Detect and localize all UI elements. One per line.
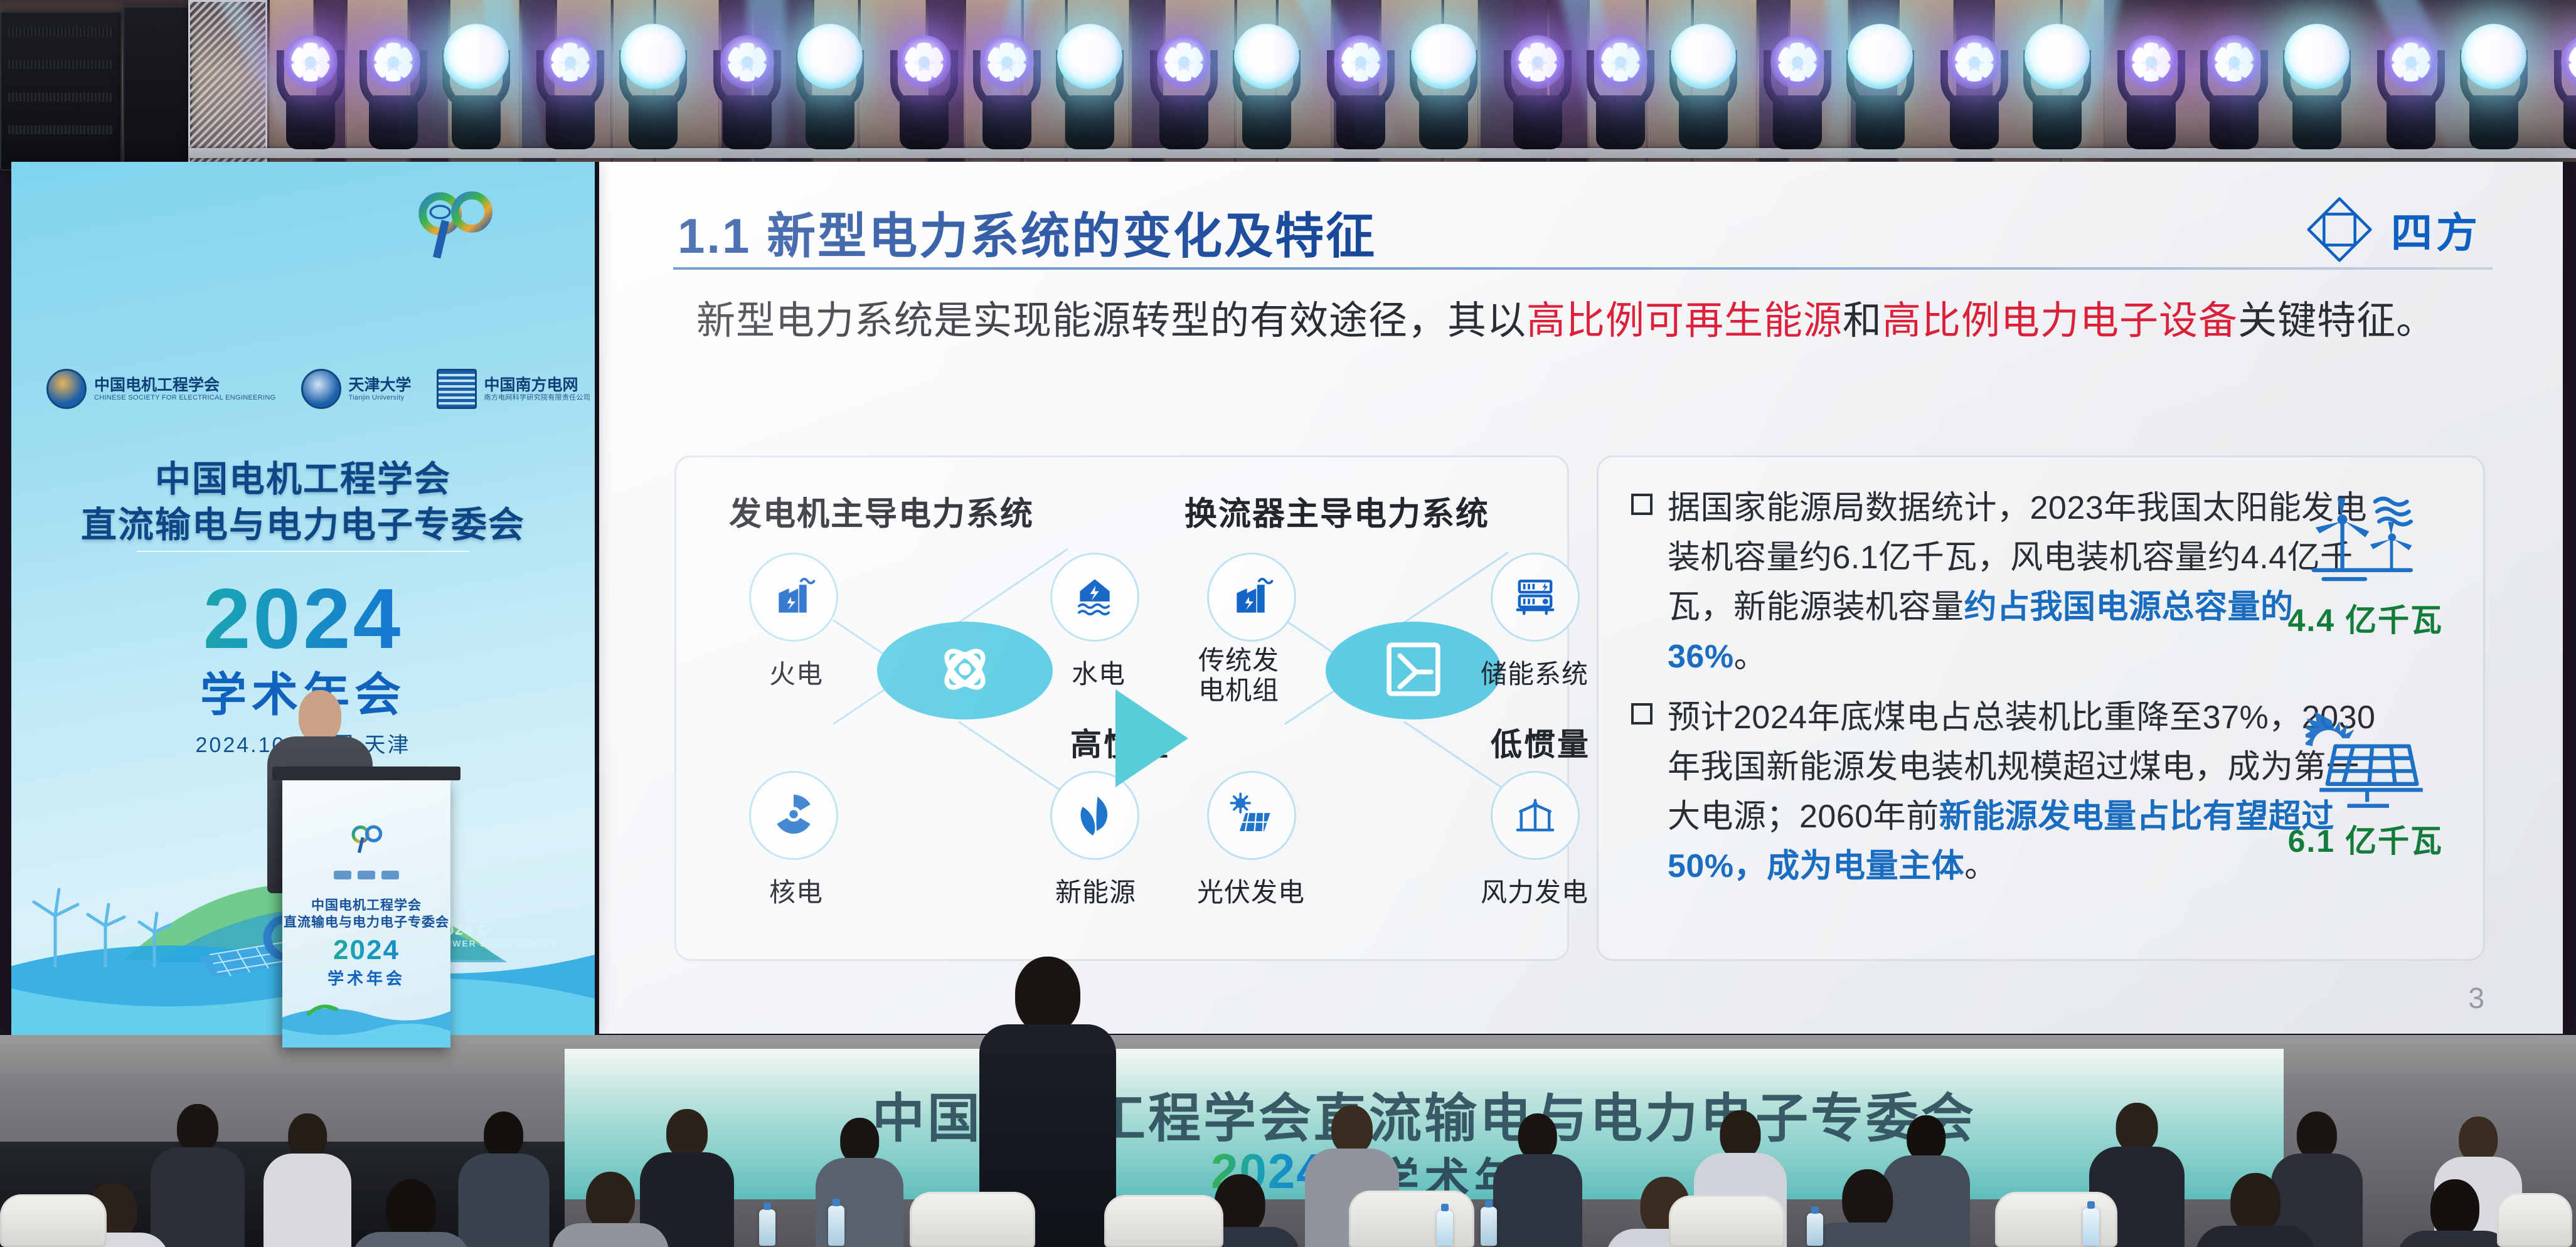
audience-head bbox=[586, 1172, 635, 1230]
audience-head bbox=[2297, 1112, 2337, 1159]
audience-body bbox=[351, 1232, 471, 1247]
audience-member bbox=[351, 1179, 471, 1247]
beam-light bbox=[1049, 18, 1131, 149]
chair bbox=[0, 1194, 107, 1247]
audience-head bbox=[386, 1179, 436, 1239]
tju-emblem-icon bbox=[301, 369, 341, 409]
water-bottle bbox=[759, 1209, 775, 1246]
banner-title: 中国电机工程学会 直流输电与电力电子专委会 bbox=[11, 457, 595, 548]
lighting-truss bbox=[188, 0, 267, 166]
audience-member bbox=[458, 1112, 549, 1247]
body-highlight-red-2: 高比例电力电子设备 bbox=[1882, 299, 2238, 342]
chair bbox=[910, 1192, 1035, 1247]
wash-light bbox=[2370, 39, 2452, 149]
diagram-panel: 发电机主导电力系统 换流器主导电力系统 bbox=[674, 455, 1569, 961]
diamond-arrows-icon bbox=[2304, 194, 2375, 265]
conference-hall-photo: 1.1 新型电力系统的变化及特征 四方 新型电力系统是 bbox=[0, 0, 2576, 1247]
bullet-list: 据国家能源局数据统计，2023年我国太阳能发电装机容量约6.1亿千瓦，风电装机容… bbox=[1627, 484, 2387, 903]
beam-light bbox=[1226, 18, 1307, 149]
csee-90-ribbon-icon bbox=[348, 819, 385, 856]
podium-year: 2024 bbox=[282, 935, 450, 966]
wash-light bbox=[353, 39, 434, 149]
battery-rack-icon bbox=[1512, 573, 1558, 622]
wash-light bbox=[530, 39, 611, 149]
audience-body bbox=[458, 1154, 549, 1247]
audience-member bbox=[2397, 1179, 2513, 1247]
solar-panel-icon bbox=[2288, 712, 2443, 812]
audience-head bbox=[1907, 1115, 1945, 1161]
stat-solar-value: 6.1 亿千瓦 bbox=[2288, 816, 2443, 861]
sponsor-logos: 中国电机工程学会CHINESE SOCIETY FOR ELECTRICAL E… bbox=[46, 369, 561, 409]
nuclear-icon bbox=[770, 791, 817, 841]
truss-beam bbox=[188, 148, 2576, 158]
banner-divider bbox=[137, 551, 469, 552]
left-hub bbox=[877, 622, 1053, 719]
wash-light bbox=[1143, 39, 1225, 149]
wash-light bbox=[2110, 39, 2192, 149]
podium-subtitle: 学术年会 bbox=[282, 966, 450, 989]
wash-light bbox=[1934, 39, 2015, 149]
audience-body bbox=[1493, 1154, 1582, 1247]
csee-emblem-icon bbox=[46, 369, 87, 409]
audience-head bbox=[288, 1113, 327, 1159]
audience-head bbox=[840, 1118, 879, 1164]
audience-member bbox=[1493, 1113, 1582, 1247]
bullet-2-tail: 。 bbox=[1964, 848, 1998, 884]
water-bottle bbox=[1481, 1207, 1497, 1246]
wash-light bbox=[883, 39, 965, 149]
line-array-speaker bbox=[123, 6, 192, 173]
sifang-brand-logo: 四方 bbox=[2304, 194, 2481, 265]
audience-head bbox=[2430, 1179, 2479, 1238]
csee-90-ribbon-icon bbox=[410, 177, 498, 265]
node-label-thermal-left: 火电 bbox=[769, 653, 823, 691]
audience-member bbox=[263, 1113, 351, 1247]
square-bullet-icon bbox=[1631, 494, 1653, 515]
podium-sponsor-logos bbox=[299, 871, 434, 879]
beam-light bbox=[2276, 18, 2358, 149]
stat-solar: 6.1 亿千瓦 bbox=[2288, 712, 2443, 861]
audience-member bbox=[552, 1172, 669, 1247]
node-label-storage: 储能系统 bbox=[1481, 653, 1589, 691]
transition-arrow-icon bbox=[1115, 689, 1188, 787]
wind-turbine-icon bbox=[2288, 491, 2443, 592]
podium-title: 中国电机工程学会 直流输电与电力电子专委会 bbox=[282, 897, 450, 931]
podium: 中国电机工程学会 直流输电与电力电子专委会 2024 学术年会 bbox=[282, 778, 450, 1048]
beam-light bbox=[435, 18, 517, 149]
podium-wave-graphic bbox=[282, 990, 450, 1048]
banner-title-line1: 中国电机工程学会 bbox=[11, 457, 595, 502]
atom-icon bbox=[931, 635, 999, 706]
beam-light bbox=[789, 18, 871, 149]
right-inertia-label: 低惯量 bbox=[1491, 719, 1590, 765]
wash-light bbox=[1320, 39, 1402, 149]
page-title: 1.1 新型电力系统的变化及特征 bbox=[678, 197, 1376, 267]
line-array-speaker bbox=[0, 11, 122, 171]
audience-head bbox=[2230, 1173, 2281, 1233]
presentation-slide: 1.1 新型电力系统的变化及特征 四方 新型电力系统是 bbox=[599, 162, 2563, 1034]
node-thermal-right bbox=[1207, 553, 1296, 642]
converter-icon bbox=[1380, 635, 1447, 706]
node-hydro bbox=[1050, 553, 1139, 642]
audience-head bbox=[2116, 1103, 2158, 1152]
presenter-head bbox=[299, 690, 341, 743]
logo-csee-label: 中国电机工程学会CHINESE SOCIETY FOR ELECTRICAL E… bbox=[94, 376, 276, 401]
audience-head bbox=[1842, 1169, 1893, 1230]
audience-body bbox=[263, 1154, 351, 1247]
node-label-solar: 光伏发电 bbox=[1197, 871, 1305, 910]
water-bottle bbox=[1437, 1211, 1453, 1246]
stat-wind: 4.4 亿千瓦 bbox=[2288, 491, 2443, 640]
audience-head bbox=[2459, 1117, 2498, 1162]
beam-light bbox=[1403, 18, 1484, 149]
statistics-panel: 据国家能源局数据统计，2023年我国太阳能发电装机容量约6.1亿千瓦，风电装机容… bbox=[1597, 455, 2485, 961]
beam-light bbox=[1839, 18, 1921, 149]
node-wind bbox=[1491, 771, 1580, 860]
chair bbox=[1349, 1191, 1474, 1247]
thermal-plant-icon bbox=[1228, 573, 1275, 622]
node-solar bbox=[1207, 771, 1296, 860]
wash-light bbox=[270, 39, 351, 149]
audience-head bbox=[177, 1104, 218, 1153]
sifang-label: 四方 bbox=[2391, 199, 2481, 260]
solar-panel-icon bbox=[1228, 791, 1275, 841]
wind-turbine-icon bbox=[1512, 791, 1558, 841]
list-item: 据国家能源局数据统计，2023年我国太阳能发电装机容量约6.1亿千瓦，风电装机容… bbox=[1627, 484, 2387, 682]
chair bbox=[2497, 1193, 2572, 1247]
slide-body-paragraph: 新型电力系统是实现能源转型的有效途径，其以高比例可再生能源和高比例电力电子设备关… bbox=[696, 294, 2491, 349]
beam-light bbox=[2453, 18, 2535, 149]
logo-csg-label: 中国南方电网南方电网科学研究院有限责任公司 bbox=[484, 376, 591, 401]
node-label-nuclear: 核电 bbox=[769, 871, 823, 910]
logo-tju: 天津大学Tianjin University bbox=[301, 369, 412, 409]
water-bottle bbox=[828, 1206, 844, 1246]
audience-member bbox=[2196, 1173, 2315, 1247]
node-label-renewable: 新能源 bbox=[1055, 871, 1136, 910]
banner-title-line2: 直流输电与电力电子专委会 bbox=[11, 502, 595, 548]
node-label-wind: 风力发电 bbox=[1481, 871, 1589, 910]
water-bottle bbox=[2083, 1208, 2099, 1246]
wash-light bbox=[966, 39, 1048, 149]
wash-light bbox=[1497, 39, 1578, 149]
banner-power-text: 2024 C POWER ELECTRONICS bbox=[437, 922, 557, 948]
node-storage bbox=[1491, 553, 1580, 642]
chair bbox=[1669, 1196, 1785, 1247]
csg-emblem-icon bbox=[437, 369, 477, 409]
logo-csee: 中国电机工程学会CHINESE SOCIETY FOR ELECTRICAL E… bbox=[46, 369, 276, 409]
wash-light bbox=[706, 39, 788, 149]
body-segment-1: 新型电力系统是实现能源转型的有效途径，其以 bbox=[696, 299, 1526, 342]
audience-head bbox=[484, 1112, 524, 1159]
hydro-house-icon bbox=[1072, 573, 1118, 622]
water-bottle bbox=[1807, 1213, 1823, 1246]
audience-head bbox=[666, 1109, 708, 1158]
audience-body bbox=[2196, 1226, 2315, 1247]
left-diagram-title: 发电机主导电力系统 bbox=[729, 487, 1034, 534]
podium-top-edge bbox=[272, 767, 460, 780]
square-bullet-icon bbox=[1631, 703, 1653, 724]
body-segment-5: 关键特征。 bbox=[2238, 299, 2435, 342]
wash-light bbox=[2547, 39, 2576, 149]
audience-head bbox=[1331, 1105, 1373, 1154]
node-label-hydro: 水电 bbox=[1072, 653, 1126, 691]
podium-title-line2: 直流输电与电力电子专委会 bbox=[282, 914, 450, 931]
audience-head bbox=[1720, 1110, 1760, 1159]
logo-tju-label: 天津大学Tianjin University bbox=[349, 376, 412, 401]
right-diagram-title: 换流器主导电力系统 bbox=[1184, 487, 1489, 534]
wash-light bbox=[1580, 39, 1661, 149]
title-divider bbox=[673, 267, 2493, 270]
right-hub bbox=[1326, 622, 1501, 719]
beam-light bbox=[1663, 18, 1744, 149]
bullet-1-tail: 。 bbox=[1734, 639, 1767, 675]
audience-member bbox=[1807, 1169, 1929, 1247]
stat-wind-value: 4.4 亿千瓦 bbox=[2288, 595, 2443, 640]
banner-year: 2024 bbox=[11, 570, 595, 667]
node-thermal-left bbox=[749, 553, 838, 642]
audience-body bbox=[2397, 1231, 2513, 1247]
logo-csg: 中国南方电网南方电网科学研究院有限责任公司 bbox=[437, 369, 591, 409]
audience-head bbox=[1518, 1113, 1557, 1160]
leaf-icon bbox=[1072, 791, 1118, 841]
beam-light bbox=[612, 18, 694, 149]
audience-body bbox=[552, 1223, 669, 1247]
audience-body bbox=[1807, 1223, 1929, 1247]
body-highlight-red-1: 高比例可再生能源 bbox=[1526, 299, 1843, 342]
beam-light bbox=[2016, 18, 2098, 149]
node-label-thermal-right: 传统发 电机组 bbox=[1198, 645, 1279, 706]
body-segment-3: 和 bbox=[1843, 299, 1882, 342]
podium-title-line1: 中国电机工程学会 bbox=[282, 897, 450, 914]
node-nuclear bbox=[749, 771, 838, 860]
wash-light bbox=[1757, 39, 1838, 149]
photographer-head bbox=[1015, 957, 1080, 1033]
wash-light bbox=[2193, 39, 2275, 149]
list-item: 预计2024年底煤电占总装机比重降至37%，2030年我国新能源发电装机规模超过… bbox=[1627, 693, 2387, 891]
thermal-plant-icon bbox=[770, 573, 817, 622]
slide-page-number: 3 bbox=[2468, 981, 2484, 1015]
chair bbox=[1104, 1195, 1223, 1247]
